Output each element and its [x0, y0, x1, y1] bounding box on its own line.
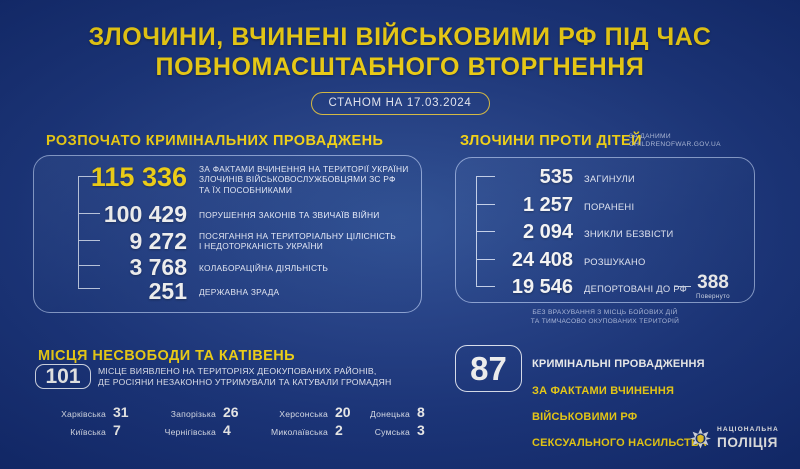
returned-children-stat: 388 Повернуто: [674, 273, 730, 300]
region-value: 3: [417, 422, 433, 438]
region-name: Запорізька: [171, 409, 216, 419]
region-item: Київська 7: [22, 422, 132, 438]
stat-value: 24 408: [456, 250, 573, 270]
logo-line-2: ПОЛІЦІЯ: [717, 436, 779, 450]
stat-value: 9 272: [34, 230, 187, 253]
region-name: Чернігівська: [165, 427, 216, 437]
stat-value: 535: [456, 167, 573, 187]
stat-row: 3 768 КОЛАБОРАЦІЙНА ДІЯЛЬНІСТЬ: [34, 256, 328, 279]
region-name: Херсонська: [279, 409, 328, 419]
violence-line-1: КРИМІНАЛЬНІ ПРОВАДЖЕННЯ: [532, 358, 705, 370]
children-source-note: ЗА ДАНИМИ CHILDRENOFWAR.GOV.UA: [629, 133, 721, 150]
stat-label: ЗАГИНУЛИ: [573, 167, 635, 184]
children-rows: 535 ЗАГИНУЛИ 1 257 ПОРАНЕНІ 2 094 ЗНИКЛИ…: [456, 158, 756, 304]
region-item: Сумська 3: [354, 422, 436, 438]
national-police-logo: НАЦІОНАЛЬНА ПОЛІЦІЯ: [690, 427, 779, 449]
region-value: 4: [223, 422, 239, 438]
violence-description: КРИМІНАЛЬНІ ПРОВАДЖЕННЯ ЗА ФАКТАМИ ВЧИНЕ…: [532, 345, 707, 451]
region-value: 26: [223, 404, 239, 420]
violence-count-badge: 87: [455, 345, 522, 392]
stat-row: 2 094 ЗНИКЛИ БЕЗВІСТИ: [456, 222, 674, 242]
logo-line-1: НАЦІОНАЛЬНА: [717, 427, 779, 434]
region-item: Херсонська 20: [242, 404, 354, 420]
stat-label: ПОРУШЕННЯ ЗАКОНІВ ТА ЗВИЧАЇВ ВІЙНИ: [187, 203, 380, 220]
region-name: Донецька: [370, 409, 410, 419]
returned-group: 388 Повернуто: [696, 273, 730, 300]
returned-label: Повернуто: [696, 293, 730, 300]
detention-count-badge: 101: [35, 364, 91, 389]
region-item: Запорізька 26: [132, 404, 242, 420]
panel-crimes-against-children: 535 ЗАГИНУЛИ 1 257 ПОРАНЕНІ 2 094 ЗНИКЛИ…: [455, 157, 755, 303]
violence-line-3: ВІЙСЬКОВИМИ РФ: [532, 411, 637, 423]
section-heading-detention: МІСЦЯ НЕСВОБОДИ ТА КАТІВЕНЬ: [38, 348, 295, 364]
stat-row: 19 546 ДЕПОРТОВАНІ ДО РФ: [456, 277, 687, 297]
header: ЗЛОЧИНИ, ВЧИНЕНІ ВІЙСЬКОВИМИ РФ ПІД ЧАС …: [0, 22, 800, 115]
region-value: 20: [335, 404, 351, 420]
region-value: 2: [335, 422, 351, 438]
stat-label: ЗНИКЛИ БЕЗВІСТИ: [573, 222, 674, 239]
region-item: Харківська 31: [22, 404, 132, 420]
source-line-1: ЗА ДАНИМИ: [629, 133, 721, 141]
children-footnote: БЕЗ ВРАХУВАННЯ З МІСЦЬ БОЙОВИХ ДІЙ ТА ТИ…: [455, 309, 755, 326]
proceedings-rows: 115 336 ЗА ФАКТАМИ ВЧИНЕННЯ НА ТЕРИТОРІЇ…: [34, 156, 423, 314]
stat-value: 1 257: [456, 195, 573, 215]
region-name: Сумська: [375, 427, 410, 437]
regions-grid: Харківська 31 Запорізька 26 Херсонська 2…: [22, 404, 432, 438]
section-heading-children: ЗЛОЧИНИ ПРОТИ ДІТЕЙ: [460, 133, 642, 149]
stat-label: ПОРАНЕНІ: [573, 195, 634, 212]
region-value: 31: [113, 404, 129, 420]
page-title-line-2: ПОВНОМАСШТАБНОГО ВТОРГНЕННЯ: [0, 52, 800, 82]
connector-dash-icon: [674, 286, 691, 287]
page-title-line-1: ЗЛОЧИНИ, ВЧИНЕНІ ВІЙСЬКОВИМИ РФ ПІД ЧАС: [0, 22, 800, 52]
region-name: Харківська: [61, 409, 106, 419]
stat-value: 3 768: [34, 256, 187, 279]
region-name: Миколаївська: [271, 427, 328, 437]
police-star-badge-icon: [690, 428, 711, 449]
stat-value: 2 094: [456, 222, 573, 242]
region-item: Чернігівська 4: [132, 422, 242, 438]
violence-line-4: СЕКСУАЛЬНОГО НАСИЛЬСТВА: [532, 437, 707, 449]
stat-label: КОЛАБОРАЦІЙНА ДІЯЛЬНІСТЬ: [187, 256, 328, 273]
returned-value: 388: [696, 273, 730, 292]
stat-row: 535 ЗАГИНУЛИ: [456, 167, 635, 187]
stat-row: 1 257 ПОРАНЕНІ: [456, 195, 634, 215]
section-heading-proceedings: РОЗПОЧАТО КРИМІНАЛЬНИХ ПРОВАДЖЕНЬ: [46, 133, 383, 149]
region-name: Київська: [70, 427, 106, 437]
source-line-2: CHILDRENOFWAR.GOV.UA: [629, 141, 721, 149]
logo-wordmark: НАЦІОНАЛЬНА ПОЛІЦІЯ: [717, 427, 779, 449]
infographic-root: ЗЛОЧИНИ, ВЧИНЕНІ ВІЙСЬКОВИМИ РФ ПІД ЧАС …: [0, 0, 800, 469]
stat-value: 100 429: [34, 203, 187, 226]
stat-label: ДЕРЖАВНА ЗРАДА: [187, 280, 279, 297]
stat-value: 115 336: [34, 164, 187, 191]
stat-label: РОЗШУКАНО: [573, 250, 646, 267]
stat-value: 19 546: [456, 277, 573, 297]
panel-criminal-proceedings: 115 336 ЗА ФАКТАМИ ВЧИНЕННЯ НА ТЕРИТОРІЇ…: [33, 155, 422, 313]
region-item: Донецька 8: [354, 404, 436, 420]
date-badge: СТАНОМ НА 17.03.2024: [311, 92, 490, 115]
stat-label: ПОСЯГАННЯ НА ТЕРИТОРІАЛЬНУ ЦІЛІСНІСТЬ І …: [187, 230, 396, 252]
stat-row: 251 ДЕРЖАВНА ЗРАДА: [34, 280, 279, 303]
detention-description: МІСЦЕ ВИЯВЛЕНО НА ТЕРИТОРІЯХ ДЕОКУПОВАНИ…: [98, 366, 391, 388]
violence-line-2: ЗА ФАКТАМИ ВЧИНЕННЯ: [532, 385, 674, 397]
stat-row: 115 336 ЗА ФАКТАМИ ВЧИНЕННЯ НА ТЕРИТОРІЇ…: [34, 164, 409, 195]
stat-row: 24 408 РОЗШУКАНО: [456, 250, 646, 270]
stat-row: 9 272 ПОСЯГАННЯ НА ТЕРИТОРІАЛЬНУ ЦІЛІСНІ…: [34, 230, 396, 253]
region-item: Миколаївська 2: [242, 422, 354, 438]
region-value: 8: [417, 404, 433, 420]
stat-value: 251: [34, 280, 187, 303]
stat-label: ЗА ФАКТАМИ ВЧИНЕННЯ НА ТЕРИТОРІЇ УКРАЇНИ…: [187, 164, 409, 195]
region-value: 7: [113, 422, 129, 438]
stat-label: ДЕПОРТОВАНІ ДО РФ: [573, 277, 687, 294]
stat-row: 100 429 ПОРУШЕННЯ ЗАКОНІВ ТА ЗВИЧАЇВ ВІЙ…: [34, 203, 380, 226]
